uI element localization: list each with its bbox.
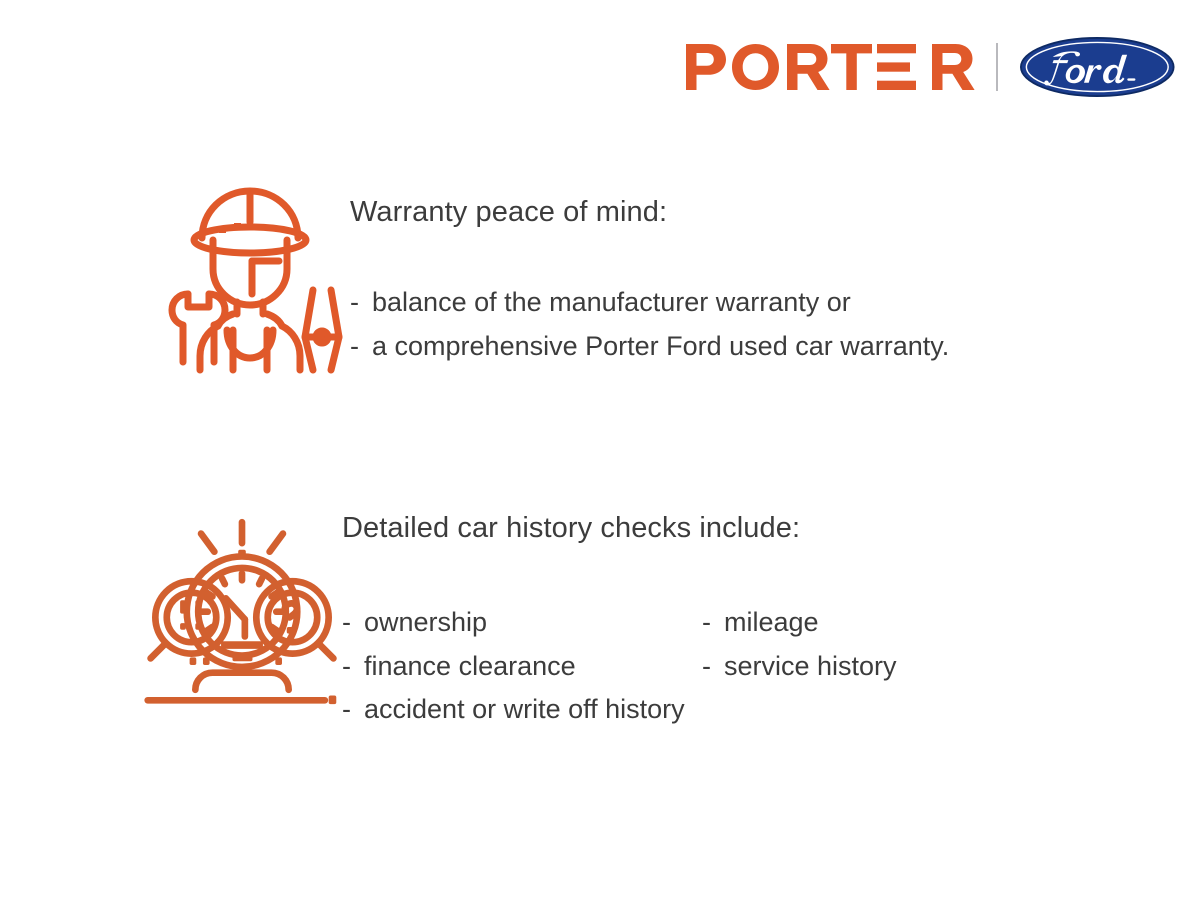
bullet-dash: - [702, 645, 724, 689]
bullet-dash: - [702, 601, 724, 645]
section-history-checks: Detailed car history checks include: - o… [142, 500, 897, 732]
bullet-dash: - [342, 645, 364, 689]
warranty-heading: Warranty peace of mind: [350, 196, 949, 229]
list-item: - balance of the manufacturer warranty o… [350, 281, 949, 325]
history-heading: Detailed car history checks include: [342, 512, 897, 545]
slide-root: { "brand": { "porter_wordmark": "PORTER"… [0, 0, 1200, 900]
history-bullet-list: - ownership - mileage - finance clearanc… [342, 601, 897, 732]
porter-wordmark-r [932, 44, 976, 90]
list-item: - ownership - mileage [342, 601, 897, 645]
bullet-text: mileage [724, 601, 819, 645]
list-item: - finance clearance - service history [342, 645, 897, 689]
porter-wordmark [686, 44, 938, 90]
section-warranty: Warranty peace of mind: - balance of the… [150, 178, 949, 376]
ford-oval-logo [1020, 37, 1175, 97]
history-text-block: Detailed car history checks include: - o… [342, 500, 897, 732]
warranty-text-block: Warranty peace of mind: - balance of the… [350, 178, 949, 368]
warranty-bullet-list: - balance of the manufacturer warranty o… [350, 281, 949, 368]
brand-logo-lockup[interactable] [686, 34, 1175, 100]
bullet-text: finance clearance [364, 645, 576, 689]
list-item: - a comprehensive Porter Ford used car w… [350, 325, 949, 369]
mechanic-icon [150, 178, 350, 376]
bullet-dash: - [350, 281, 372, 325]
bullet-text: balance of the manufacturer warranty or [372, 281, 851, 325]
bullet-dash: - [342, 601, 364, 645]
bullet-text: ownership [364, 601, 487, 645]
bullet-text: accident or write off history [364, 688, 685, 732]
logo-divider [996, 43, 998, 91]
list-item: - accident or write off history [342, 688, 897, 732]
bullet-text: a comprehensive Porter Ford used car war… [372, 325, 949, 369]
bullet-dash: - [342, 688, 364, 732]
dashboard-gauges-icon [142, 500, 342, 712]
bullet-dash: - [350, 325, 372, 369]
bullet-text: service history [724, 645, 897, 689]
